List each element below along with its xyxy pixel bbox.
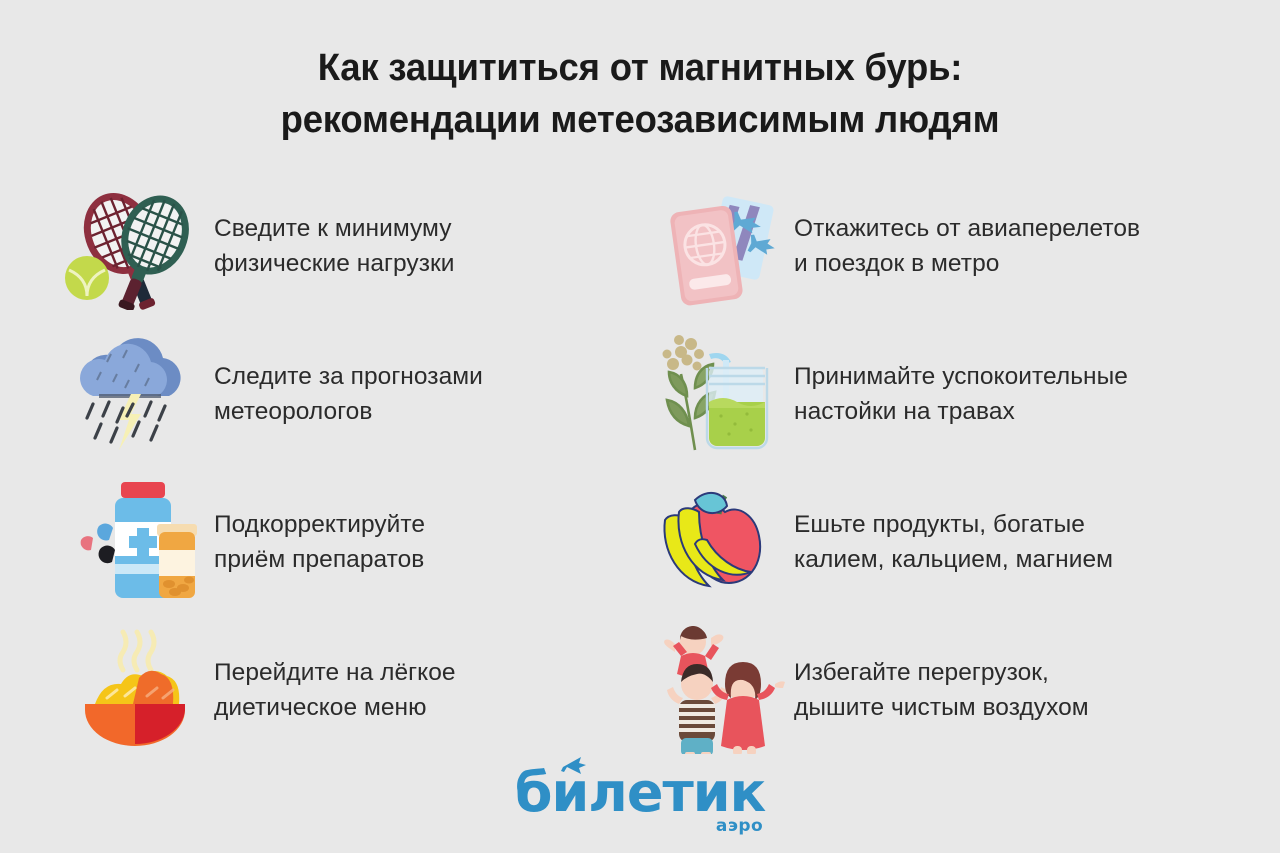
tip-label: Ешьте продукты, богатые калием, кальцием… [792, 507, 1113, 577]
airplane-icon [561, 755, 587, 780]
page-title: Как защититься от магнитных бурь: рекоме… [0, 0, 1280, 146]
tip-item-avoid-flights-and-metro: Откажитесь от авиаперелетов и поездок в … [650, 172, 1250, 320]
fruits-icon [650, 477, 792, 607]
tip-label: Избегайте перегрузок, дышите чистым возд… [792, 655, 1089, 725]
tip-label: Следите за прогнозами метеорологов [210, 359, 483, 429]
infographic-poster: Как защититься от магнитных бурь: рекоме… [0, 0, 1280, 853]
tip-item-avoid-overload: Избегайте перегрузок, дышите чистым возд… [650, 616, 1250, 764]
brand-name: билетик [515, 765, 766, 821]
tip-label: Подкорректируйте приём препаратов [210, 507, 425, 577]
brand-logo[interactable]: билетик аэро [515, 765, 766, 835]
title-line-2: рекомендации метеозависимым людям [26, 94, 1255, 146]
tip-item-watch-weather-forecast: Следите за прогнозами метеорологов [60, 320, 620, 468]
tip-item-reduce-physical-activity: Сведите к минимуму физические нагрузки [60, 172, 620, 320]
tip-item-herbal-tinctures: Принимайте успокоительные настойки на тр… [650, 320, 1250, 468]
tennis-rackets-icon [60, 181, 210, 311]
tip-label: Сведите к минимуму физические нагрузки [210, 211, 455, 281]
tip-item-adjust-medication: Подкорректируйте приём препаратов [60, 468, 620, 616]
tip-item-light-diet: Перейдите на лёгкое диетическое меню [60, 616, 620, 764]
tip-item-potassium-rich-food: Ешьте продукты, богатые калием, кальцием… [650, 468, 1250, 616]
tips-grid: Сведите к минимуму физические нагрузки [0, 172, 1280, 764]
herbal-drink-icon [650, 329, 792, 459]
tip-label: Принимайте успокоительные настойки на тр… [792, 359, 1128, 429]
food-bowl-icon [60, 625, 210, 755]
family-icon [650, 625, 792, 755]
tip-label: Откажитесь от авиаперелетов и поездок в … [792, 211, 1140, 281]
storm-cloud-icon [60, 329, 210, 459]
title-line-1: Как защититься от магнитных бурь: [26, 42, 1255, 94]
medicine-bottles-icon [60, 477, 210, 607]
tip-label: Перейдите на лёгкое диетическое меню [210, 655, 456, 725]
passport-tickets-icon [650, 181, 792, 311]
footer: билетик аэро [0, 765, 1280, 835]
